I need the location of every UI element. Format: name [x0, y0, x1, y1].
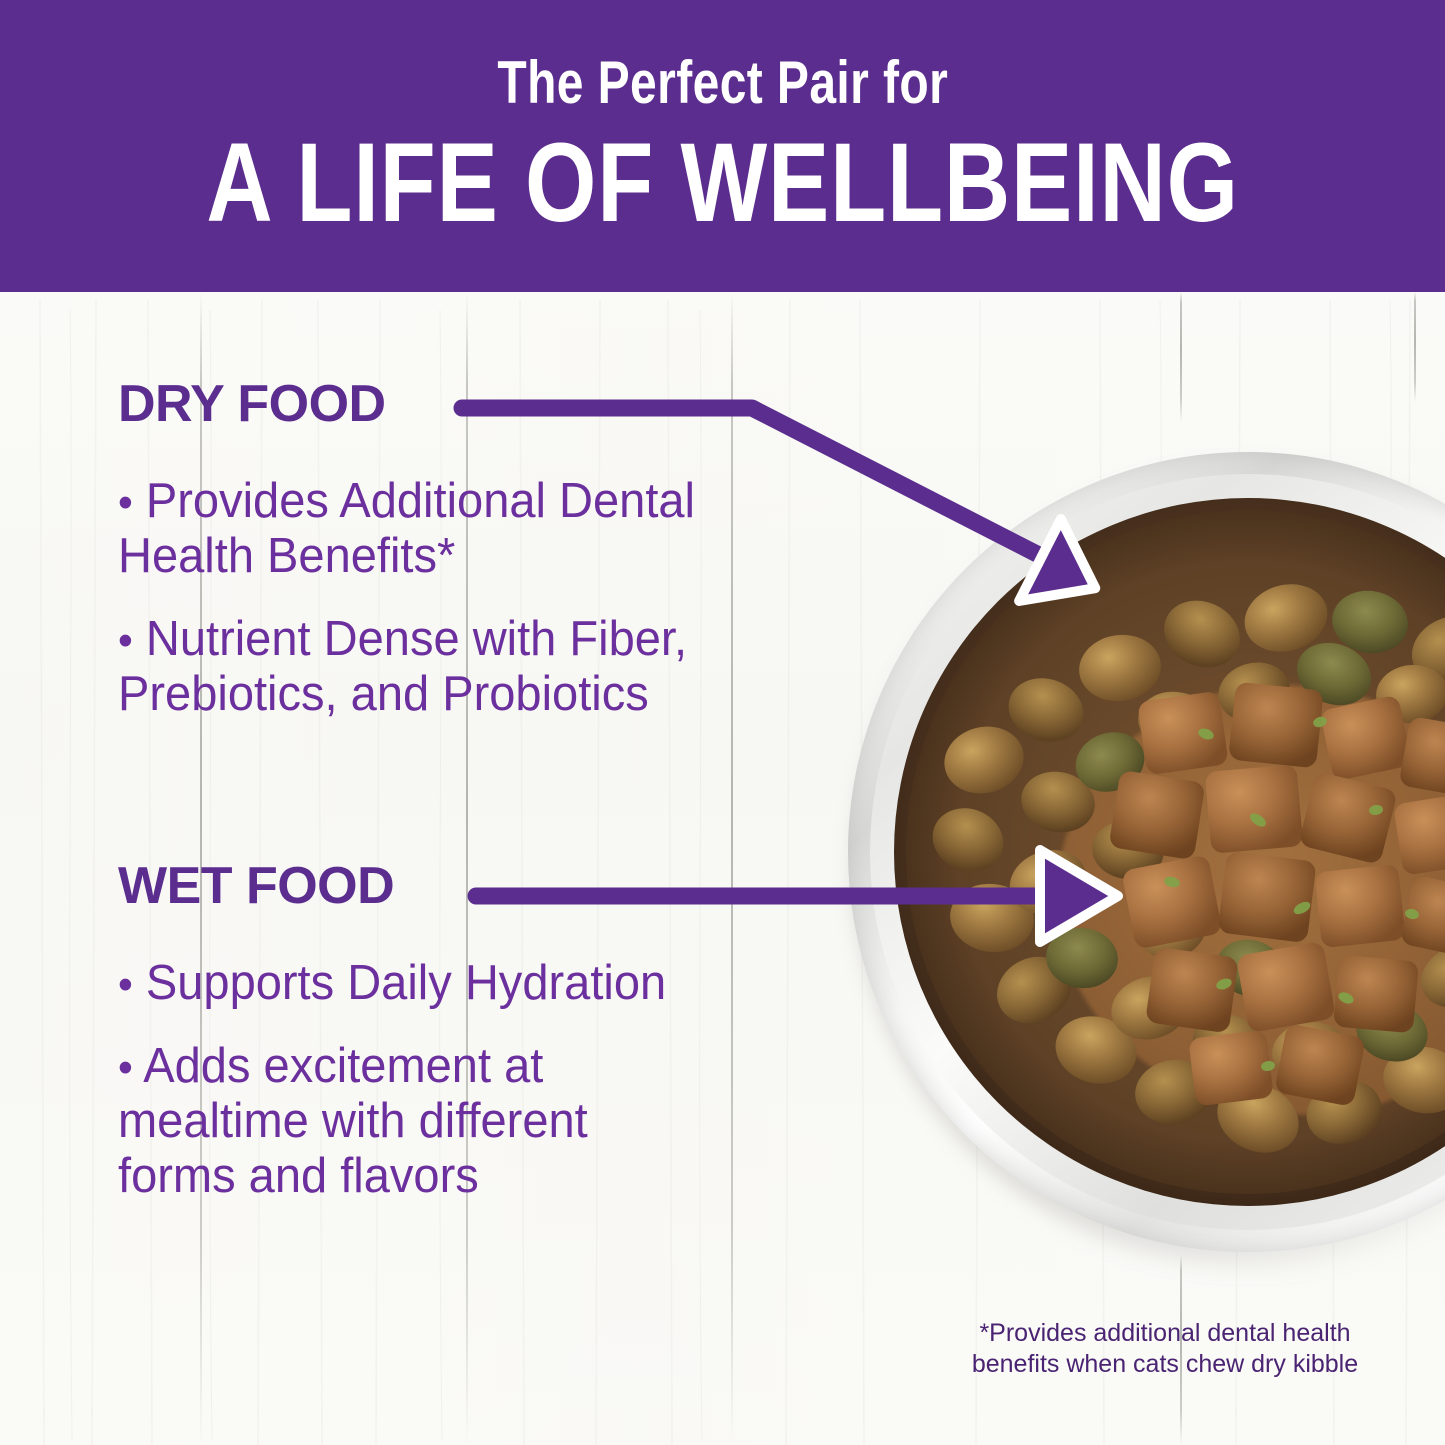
bullet-dot-icon: •: [118, 960, 133, 1009]
bullet-dot-icon: •: [118, 616, 133, 665]
bowl-food-area: [906, 510, 1445, 1194]
dry-food-section: DRY FOOD • Provides Additional Dental He…: [118, 378, 738, 750]
list-item: • Provides Additional Dental Health Bene…: [118, 474, 713, 584]
pet-food-bowl-image: [848, 452, 1445, 1252]
list-item: • Supports Daily Hydration: [118, 956, 713, 1011]
bullet-dot-icon: •: [118, 478, 133, 527]
list-item: • Nutrient Dense with Fiber, Prebiotics,…: [118, 612, 713, 722]
header-title: A LIFE OF WELLBEING: [206, 127, 1239, 239]
plank-seam-6: [1414, 292, 1416, 402]
wet-food-bullets: • Supports Daily Hydration • Adds excite…: [118, 956, 738, 1204]
header-subtitle: The Perfect Pair for: [497, 53, 948, 113]
footnote-disclaimer: *Provides additional dental health benef…: [955, 1318, 1375, 1379]
promo-graphic: The Perfect Pair for A LIFE OF WELLBEING: [0, 0, 1445, 1445]
dry-food-bullets: • Provides Additional Dental Health Bene…: [118, 474, 738, 722]
bullet-text: Provides Additional Dental Health Benefi…: [118, 474, 695, 583]
wet-food-heading: WET FOOD: [118, 860, 738, 912]
food-texture-layer: [906, 510, 1445, 1194]
header-banner: The Perfect Pair for A LIFE OF WELLBEING: [0, 0, 1445, 292]
bullet-dot-icon: •: [118, 1043, 133, 1092]
bullet-text: Nutrient Dense with Fiber, Prebiotics, a…: [118, 612, 687, 721]
bullet-text: Supports Daily Hydration: [146, 956, 666, 1010]
plank-seam-4: [1180, 292, 1182, 422]
bullet-text: Adds excitement at mealtime with differe…: [118, 1039, 588, 1203]
wet-food-section: WET FOOD • Supports Daily Hydration • Ad…: [118, 860, 738, 1232]
list-item: • Adds excitement at mealtime with diffe…: [118, 1039, 713, 1204]
dry-food-heading: DRY FOOD: [118, 378, 738, 430]
